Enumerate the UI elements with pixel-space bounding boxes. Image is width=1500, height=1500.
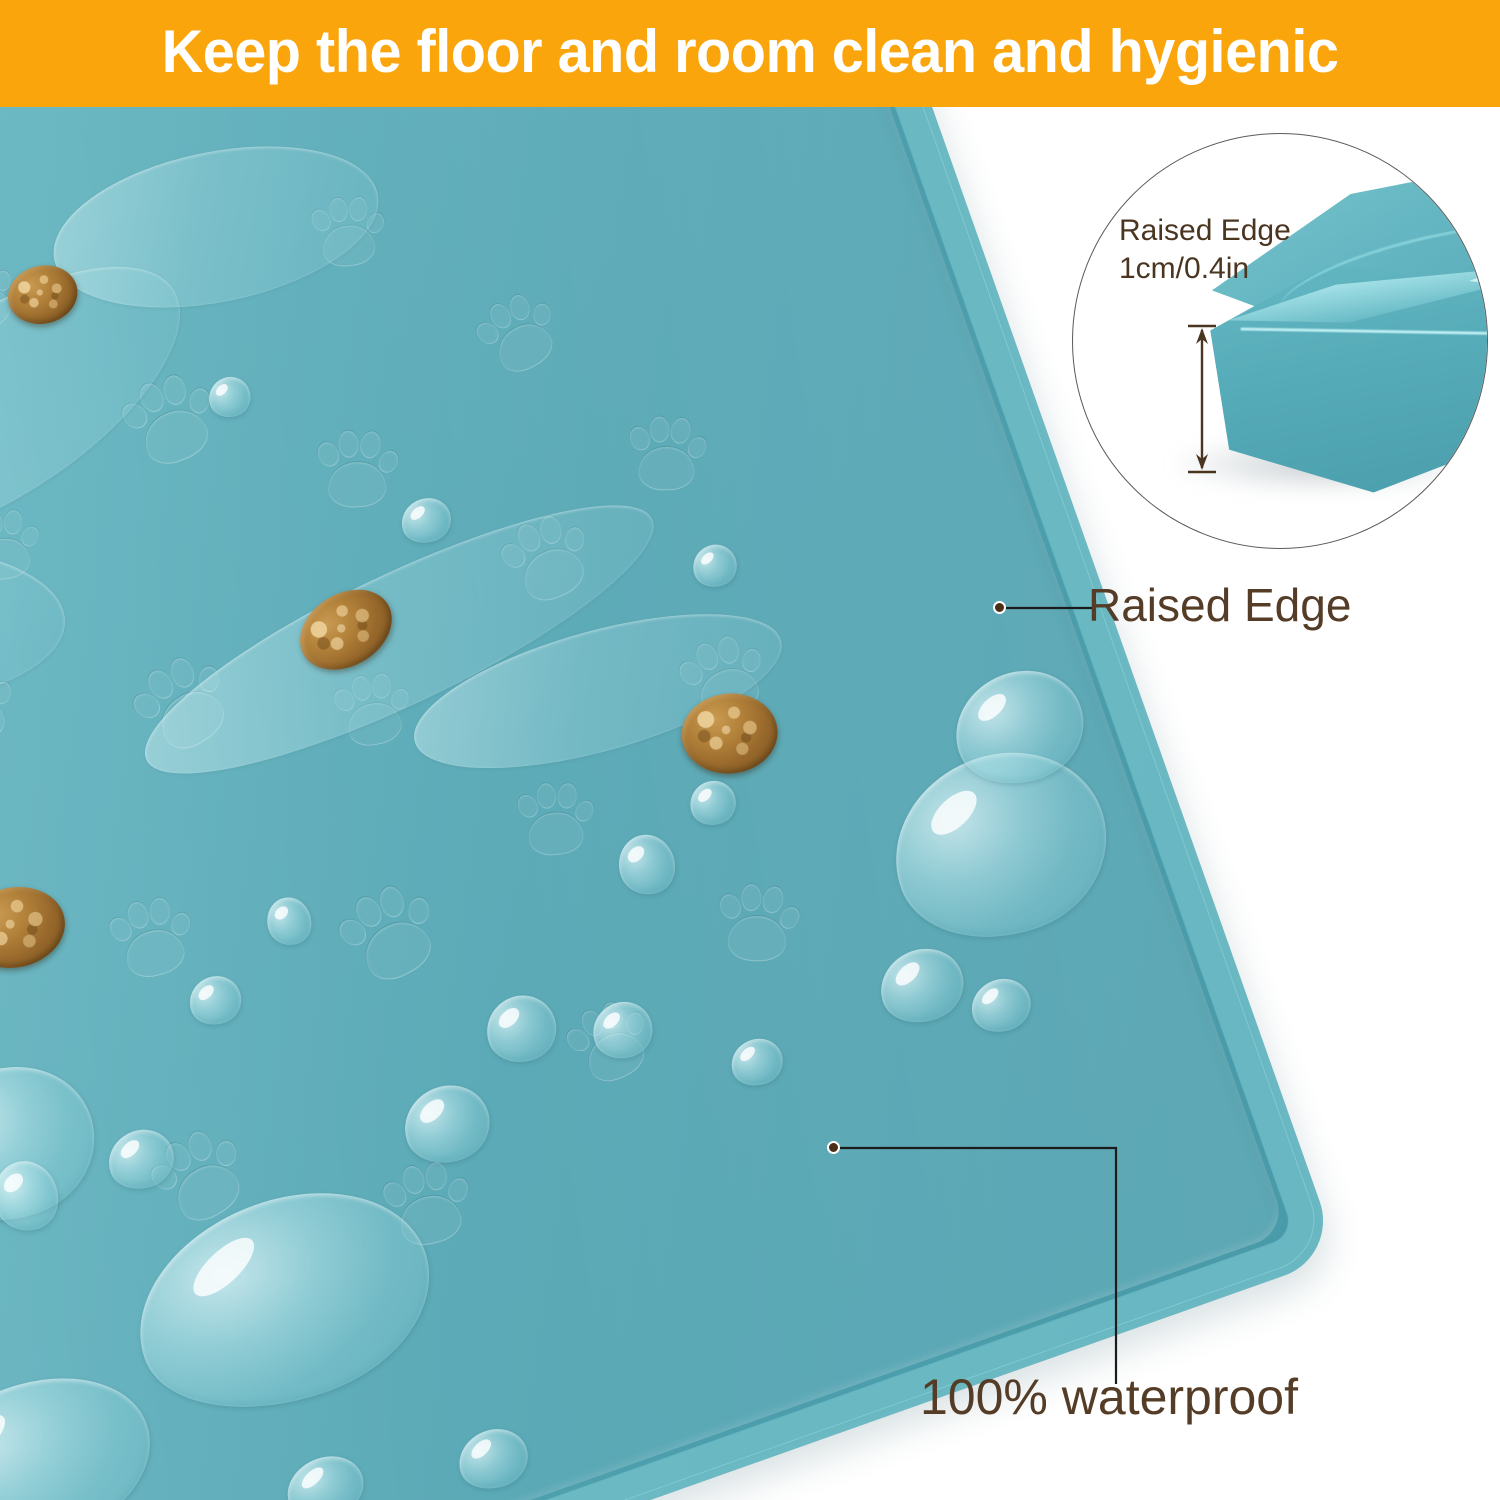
water-droplet [684, 775, 742, 832]
water-droplet [183, 969, 248, 1032]
water-droplet [260, 891, 317, 951]
water-droplet [964, 971, 1038, 1040]
inset-title: Raised Edge [1119, 214, 1291, 247]
water-droplet [203, 371, 256, 423]
kibble-piece [0, 878, 72, 977]
raised-edge-label: Raised Edge [1088, 578, 1351, 632]
water-droplet [610, 827, 683, 902]
water-droplet [451, 1420, 536, 1498]
water-droplet [687, 539, 742, 593]
raised-edge-detail-circle: Raised Edge1cm/0.4in [1072, 133, 1488, 549]
header-banner: Keep the floor and room clean and hygien… [0, 0, 1500, 107]
water-droplet [477, 986, 565, 1072]
waterproof-leader-line [826, 1140, 1126, 1390]
waterproof-anchor-dot [827, 1141, 840, 1154]
raised-edge-anchor-dot [993, 601, 1006, 614]
water-droplet [394, 1074, 500, 1174]
inset-caption: Raised Edge1cm/0.4in [1119, 212, 1291, 288]
water-droplet [395, 492, 457, 550]
banner-headline: Keep the floor and room clean and hygien… [30, 0, 1470, 107]
raised-edge-leader-line [995, 600, 1095, 616]
water-droplet [109, 1157, 459, 1446]
water-droplet [870, 938, 973, 1034]
waterproof-label: 100% waterproof [920, 1368, 1298, 1426]
product-marketing-image: Keep the floor and room clean and hygien… [0, 0, 1500, 1500]
water-droplet [725, 1032, 789, 1093]
water-droplet [278, 1447, 372, 1500]
dimension-arrow-icon [1185, 324, 1219, 474]
inset-measurement: 1cm/0.4in [1119, 252, 1249, 285]
water-droplet [0, 1348, 173, 1500]
